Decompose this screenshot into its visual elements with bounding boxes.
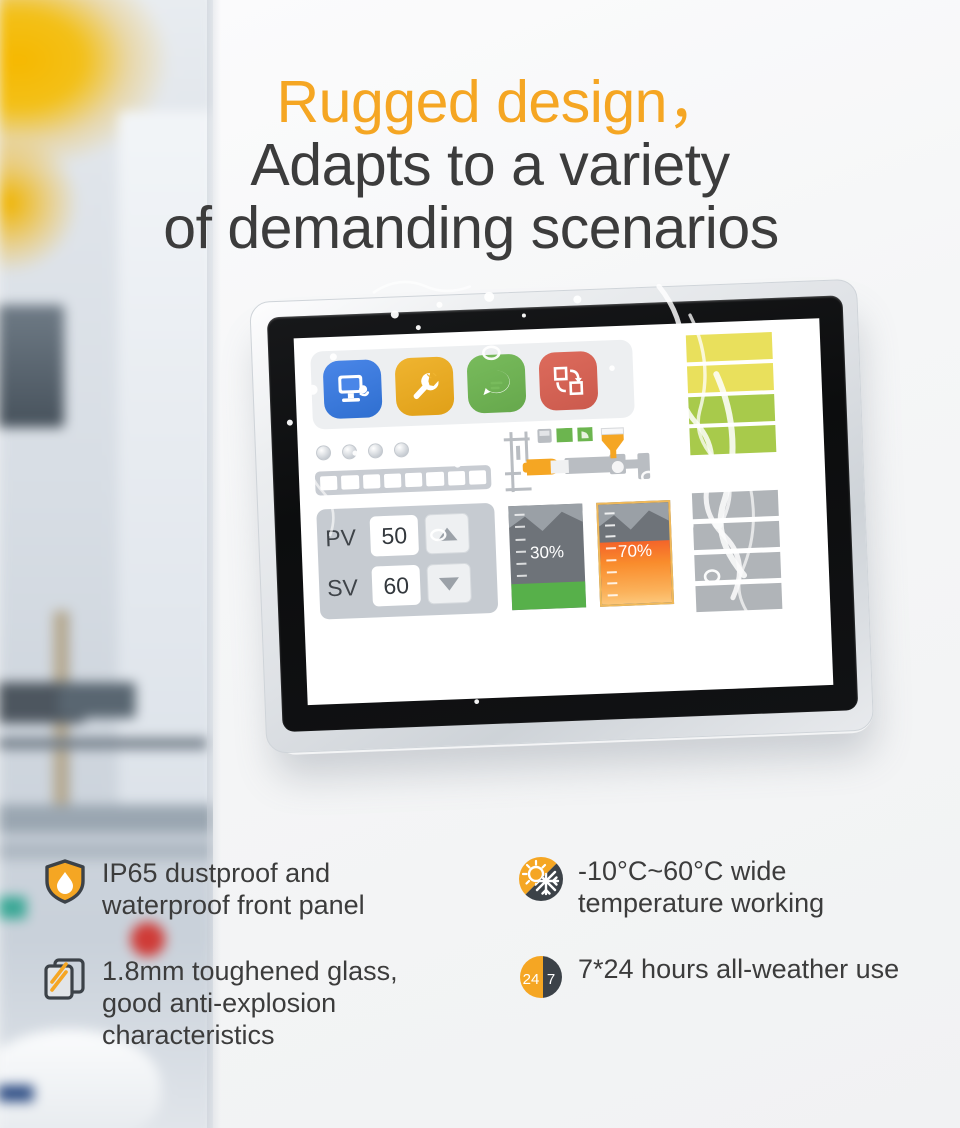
- headline-line2: Adapts to a variety: [0, 135, 960, 195]
- down-arrow-icon: [439, 577, 459, 591]
- feature-item-ip65: IP65 dustproof and waterproof front pane…: [42, 858, 462, 922]
- setpoint-panel: PV 50 SV 60: [316, 503, 498, 620]
- page-title: Rugged design， Adapts to a variety of de…: [0, 72, 960, 259]
- sv-label: SV: [327, 573, 366, 601]
- shield-waterdrop-icon: [42, 858, 88, 904]
- transfer-icon[interactable]: [538, 351, 598, 411]
- gauge-right: 70%: [596, 500, 674, 607]
- indicator-dot: [316, 445, 332, 461]
- gauge-right-value: 70%: [600, 540, 671, 563]
- gray-bar: [693, 521, 780, 550]
- chat-icon[interactable]: [466, 354, 526, 414]
- feature-item-24-7: 24 7 7*24 hours all-weather use: [518, 954, 958, 1000]
- gray-bar: [695, 583, 782, 612]
- segment-bar: [315, 465, 492, 496]
- headline-accent: Rugged design，: [0, 72, 960, 132]
- status-bar: [689, 425, 776, 455]
- gray-bar-group: [692, 490, 783, 617]
- feature-item-temperature: -10°C~60°C wide temperature working: [518, 856, 948, 920]
- feature-text: 1.8mm toughened glass, good anti-explosi…: [102, 956, 398, 1052]
- gray-bar: [692, 490, 779, 519]
- feature-list: IP65 dustproof and waterproof front pane…: [0, 852, 960, 1062]
- status-bar: [686, 332, 773, 362]
- svg-text:7: 7: [547, 971, 555, 988]
- pv-label: PV: [325, 523, 364, 551]
- headline-line3: of demanding scenarios: [0, 198, 960, 258]
- 24-7-clock-icon: 24 7: [518, 954, 564, 1000]
- feature-text: 7*24 hours all-weather use: [578, 954, 899, 986]
- indicator-dots: [316, 442, 410, 461]
- device-bezel: PV 50 SV 60: [249, 279, 874, 754]
- device-image: PV 50 SV 60: [249, 278, 887, 771]
- sv-value: 60: [371, 565, 421, 607]
- indicator-dot: [368, 443, 384, 459]
- indicator-dot: [342, 444, 358, 460]
- feature-text: IP65 dustproof and waterproof front pane…: [102, 858, 365, 922]
- gauge-left: 30%: [508, 503, 586, 610]
- app-icon-bar: [310, 339, 635, 429]
- up-arrow-icon: [437, 527, 457, 541]
- sun-snowflake-icon: [518, 856, 564, 902]
- status-bar: [687, 363, 774, 393]
- wrench-icon[interactable]: [394, 356, 454, 416]
- machine-schematic-icon: [503, 424, 667, 496]
- sv-row: SV 60: [326, 560, 490, 610]
- pv-value: 50: [370, 515, 420, 557]
- svg-text:24: 24: [523, 971, 540, 988]
- device-screen-border: PV 50 SV 60: [267, 295, 859, 732]
- hmi-screen: PV 50 SV 60: [294, 318, 834, 705]
- indicator-dot: [394, 442, 410, 458]
- status-bar-group: [686, 332, 777, 459]
- feature-item-glass: 1.8mm toughened glass, good anti-explosi…: [42, 956, 472, 1052]
- toughened-glass-icon: [42, 956, 88, 1002]
- pv-row: PV 50: [324, 510, 488, 560]
- gray-bar: [694, 552, 781, 581]
- status-bar: [688, 394, 775, 424]
- monitor-icon[interactable]: [323, 359, 383, 419]
- promotional-banner: Rugged design， Adapts to a variety of de…: [0, 0, 960, 1128]
- feature-text: -10°C~60°C wide temperature working: [578, 856, 824, 920]
- decrement-button[interactable]: [426, 563, 472, 605]
- gauge-left-value: 30%: [510, 541, 585, 564]
- increment-button[interactable]: [424, 513, 470, 555]
